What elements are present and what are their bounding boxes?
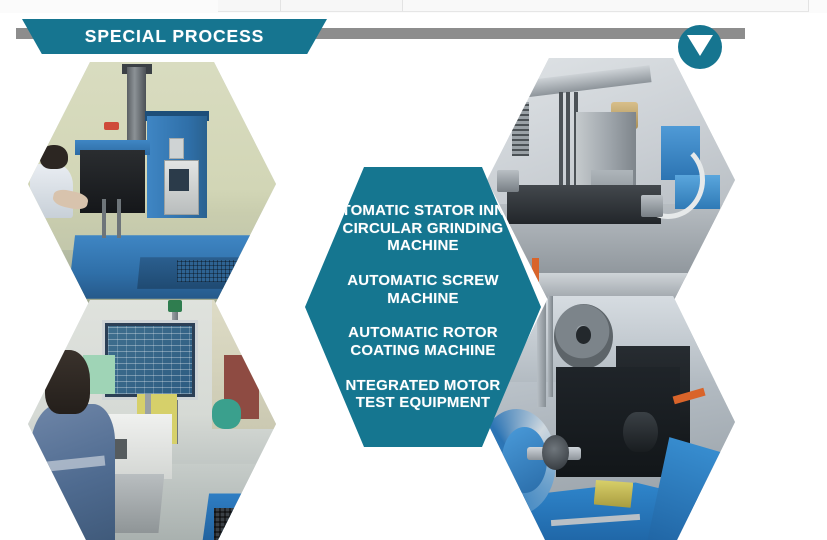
process-list: AUTOMATIC STATOR INNER CIRCULAR GRINDING… <box>314 202 531 412</box>
top-strip-cell <box>218 0 281 12</box>
page-title: SPECIAL PROCESS <box>85 26 264 47</box>
photo-hexagon-bottom-left <box>28 300 276 540</box>
special-process-banner: SPECIAL PROCESS <box>0 0 827 540</box>
process-item: AUTOMATIC SCREW MACHINE <box>314 272 531 307</box>
photo-scene <box>487 58 735 302</box>
triangle-down-icon <box>678 25 722 69</box>
photo-hexagon-top-left <box>28 62 276 306</box>
section-title-banner: SPECIAL PROCESS <box>22 19 327 54</box>
photo-scene <box>28 62 276 306</box>
top-strip-cell <box>403 0 809 12</box>
process-item: NTEGRATED MOTOR TEST EQUIPMENT <box>346 377 501 412</box>
top-strip-cell <box>281 0 403 12</box>
top-border-strip <box>0 0 827 13</box>
section-header: SPECIAL PROCESS <box>0 13 827 65</box>
process-item: AUTOMATIC STATOR INNER CIRCULAR GRINDING… <box>314 202 531 255</box>
triangle-down-glyph <box>687 35 713 56</box>
process-item: AUTOMATIC ROTOR COATING MACHINE <box>348 324 498 359</box>
photo-scene <box>28 300 276 540</box>
photo-hexagon-top-right <box>487 58 735 302</box>
